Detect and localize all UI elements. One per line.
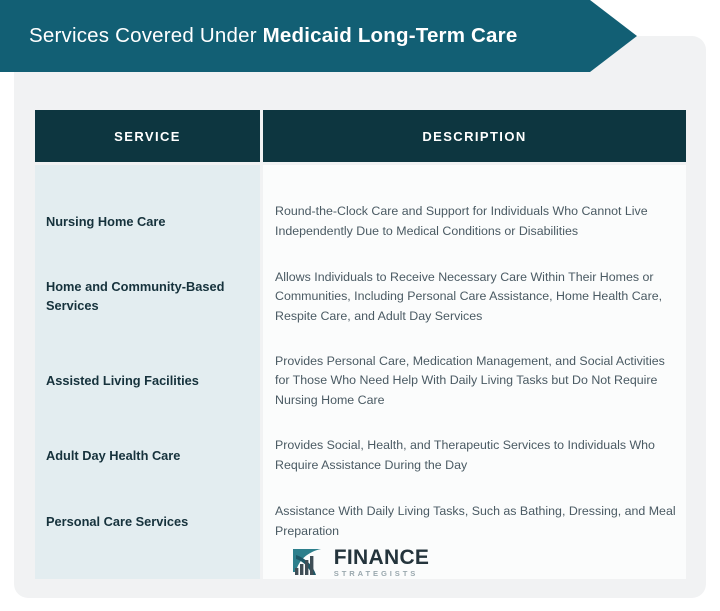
table-row: Home and Community-Based Services [35,255,260,339]
header-banner: Services Covered Under Medicaid Long-Ter… [0,0,637,72]
spacer-top [35,165,260,189]
footer-logo: FINANCE STRATEGISTS [0,546,720,578]
finance-strategists-logo-icon [291,546,327,578]
table-row: Adult Day Health Care [35,423,260,489]
spacer-top [263,165,686,189]
table-row: Assisted Living Facilities [35,339,260,423]
page-title: Services Covered Under Medicaid Long-Ter… [0,26,517,47]
table-body: Nursing Home Care Home and Community-Bas… [35,165,686,579]
page-title-strong: Medicaid Long-Term Care [263,24,518,47]
logo-word: FINANCE [334,547,429,568]
table-row: Round-the-Clock Care and Support for Ind… [263,189,686,255]
logo-subtitle: STRATEGISTS [334,570,429,578]
logo-wordmark: FINANCE STRATEGISTS [334,547,429,578]
table-row: Allows Individuals to Receive Necessary … [263,255,686,339]
description-column: Round-the-Clock Care and Support for Ind… [263,165,686,579]
table-row: Provides Personal Care, Medication Manag… [263,339,686,423]
table-row: Provides Social, Health, and Therapeutic… [263,423,686,489]
page-title-light: Services Covered Under [29,24,263,47]
table-header-row: SERVICE DESCRIPTION [35,110,686,162]
column-header-description: DESCRIPTION [263,110,686,162]
service-column: Nursing Home Care Home and Community-Bas… [35,165,260,579]
table-row: Nursing Home Care [35,189,260,255]
services-table: SERVICE DESCRIPTION Nursing Home Care Ho… [35,110,686,579]
column-header-service: SERVICE [35,110,260,162]
